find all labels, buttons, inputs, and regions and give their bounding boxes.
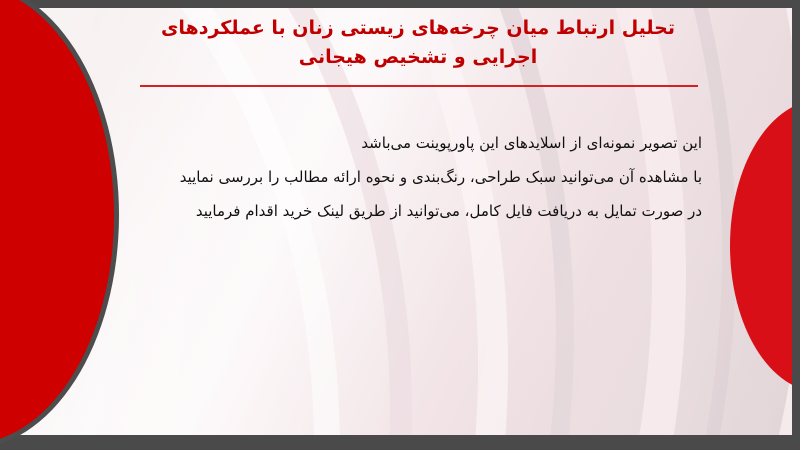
body-line-3: در صورت تمایل به دریافت فایل کامل، می‌تو… (62, 194, 702, 228)
slide-body-text: این تصویر نمونه‌ای از اسلایدهای این پاور… (62, 126, 702, 229)
red-ellipse-right (730, 100, 792, 392)
body-line-1: این تصویر نمونه‌ای از اسلایدهای این پاور… (62, 126, 702, 160)
title-divider-rule (140, 85, 698, 87)
slide-title-line-2: اجرایی و تشخیص هیجانی (118, 43, 718, 72)
presentation-slide: تحلیل ارتباط میان چرخه‌های زیستی زنان با… (0, 0, 800, 450)
slide-title-line-1: تحلیل ارتباط میان چرخه‌های زیستی زنان با… (118, 14, 718, 43)
slide-surface: تحلیل ارتباط میان چرخه‌های زیستی زنان با… (8, 8, 792, 435)
body-line-2: با مشاهده آن می‌توانید سبک طراحی، رنگ‌بن… (62, 160, 702, 194)
slide-title: تحلیل ارتباط میان چرخه‌های زیستی زنان با… (118, 14, 718, 73)
